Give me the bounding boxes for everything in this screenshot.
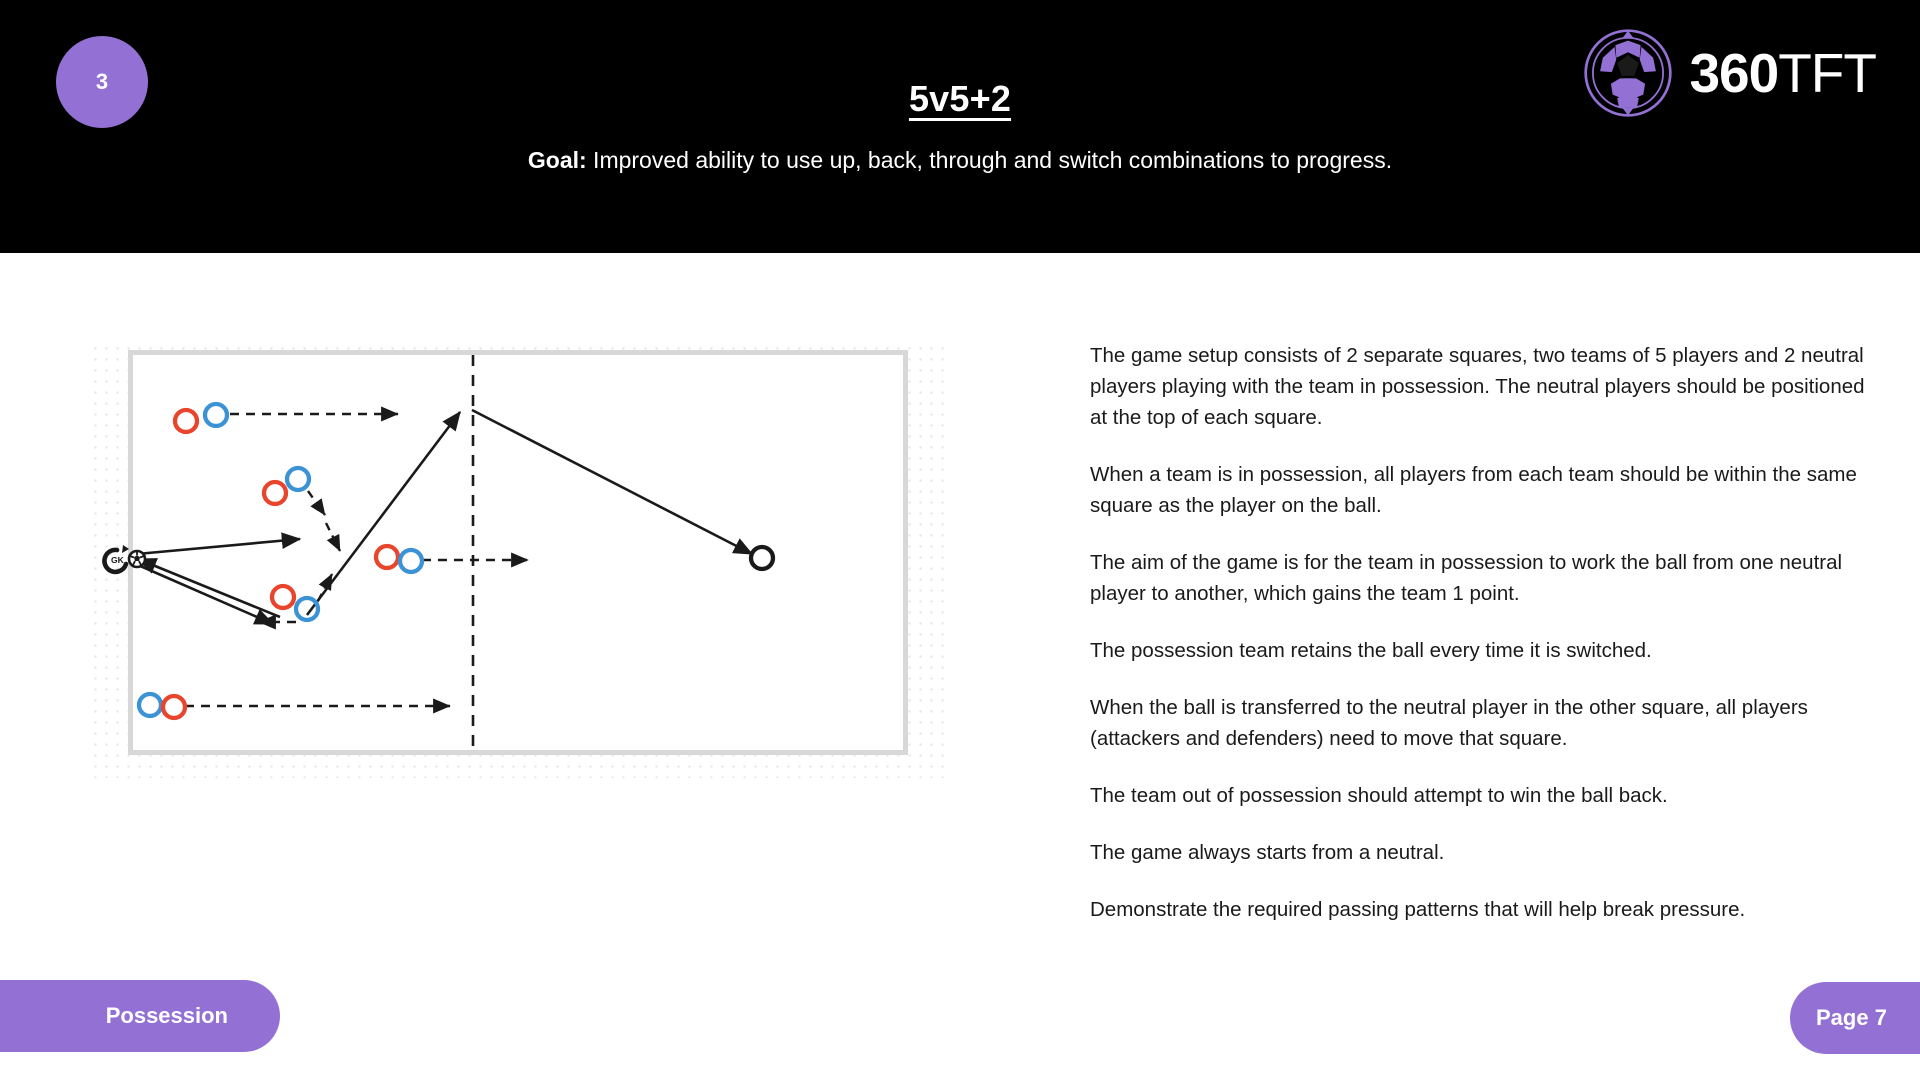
session-description: The game setup consists of 2 separate sq… (1090, 340, 1880, 925)
page-number-badge: Page 7 (1790, 982, 1920, 1054)
marker-red-top-left (175, 410, 197, 432)
description-paragraph: The game setup consists of 2 separate sq… (1090, 340, 1880, 433)
marker-blue-center-right (400, 550, 422, 572)
pass-mid-to-neutral-left (307, 412, 460, 615)
tactics-diagram: GK (90, 343, 945, 778)
marker-red-lower-mid (272, 586, 294, 608)
goal-text: Improved ability to use up, back, throug… (587, 147, 1392, 173)
goalkeeper-marker: GK (104, 545, 129, 572)
run-upper-mid-drop (308, 491, 325, 515)
marker-neutral-right (751, 547, 773, 569)
description-paragraph: When the ball is transferred to the neut… (1090, 692, 1880, 754)
marker-red-bottom-left (163, 696, 185, 718)
marker-blue-upper-mid (287, 468, 309, 490)
svg-text:GK: GK (111, 555, 125, 565)
pass-neutral-to-neutral-switch (472, 410, 752, 554)
logo-wordmark: 360TFT (1689, 46, 1876, 101)
category-tag-possession: Possession (0, 980, 280, 1052)
description-paragraph: When a team is in possession, all player… (1090, 459, 1880, 521)
pitch-overlay-graphics: GK (90, 343, 945, 778)
logo-360-text: 360 (1689, 46, 1778, 101)
marker-red-center-right (376, 546, 398, 568)
description-paragraph: The aim of the game is for the team in p… (1090, 547, 1880, 609)
logo-tft-text: TFT (1778, 46, 1876, 101)
page-number-label: Page 7 (1816, 1005, 1887, 1031)
category-tag-label: Possession (106, 1003, 228, 1029)
pass-gk-to-mid (137, 539, 300, 554)
brand-logo: 360TFT (1583, 28, 1876, 118)
session-goal: Goal: Improved ability to use up, back, … (528, 147, 1392, 174)
run-upper-mid-forward (326, 523, 340, 551)
marker-red-upper-mid (264, 482, 286, 504)
description-paragraph: Demonstrate the required passing pattern… (1090, 894, 1880, 925)
page-header: 3 5v5+2 Goal: Improved ability to use up… (0, 0, 1920, 253)
pass-gk-to-lower (138, 565, 273, 624)
description-paragraph: The game always starts from a neutral. (1090, 837, 1880, 868)
description-paragraph: The possession team retains the ball eve… (1090, 635, 1880, 666)
marker-blue-top-left (205, 404, 227, 426)
marker-blue-lower-mid (296, 598, 318, 620)
ball-icon (129, 551, 145, 567)
soccer-ball-icon (1583, 28, 1673, 118)
description-paragraph: The team out of possession should attemp… (1090, 780, 1880, 811)
run-lower-mid-up (318, 574, 332, 601)
marker-blue-bottom-left (139, 694, 161, 716)
page-title: 5v5+2 (909, 78, 1011, 120)
goal-label: Goal: (528, 147, 587, 173)
pass-lower-back-to-gk (138, 559, 280, 617)
